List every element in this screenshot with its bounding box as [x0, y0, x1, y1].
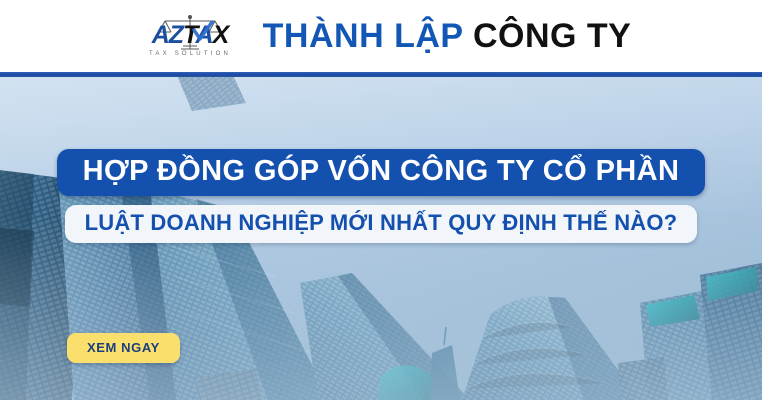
- page-title-primary: THÀNH LẬP: [263, 17, 463, 55]
- page-title-secondary: CÔNG TY: [473, 17, 631, 55]
- xem-ngay-button[interactable]: XEM NGAY: [67, 333, 180, 363]
- banner-page: AZTAX TAX SOLUTION THÀNH LẬP CÔNG TY: [0, 0, 762, 400]
- svg-text:AZTAX: AZTAX: [150, 21, 230, 49]
- hero-banner: HỢP ĐỒNG GÓP VỐN CÔNG TY CỔ PHẦN LUẬT DO…: [0, 77, 762, 400]
- page-title: THÀNH LẬP CÔNG TY: [263, 19, 632, 53]
- header-divider: [0, 72, 762, 77]
- aztax-logo[interactable]: AZTAX TAX SOLUTION: [131, 13, 249, 59]
- headline-title: HỢP ĐỒNG GÓP VỐN CÔNG TY CỔ PHẦN: [57, 149, 706, 196]
- svg-text:TAX SOLUTION: TAX SOLUTION: [149, 51, 231, 57]
- headline-group: HỢP ĐỒNG GÓP VỐN CÔNG TY CỔ PHẦN LUẬT DO…: [0, 149, 762, 243]
- headline-subtitle: LUẬT DOANH NGHIỆP MỚI NHẤT QUY ĐỊNH THẾ …: [65, 205, 698, 242]
- page-header: AZTAX TAX SOLUTION THÀNH LẬP CÔNG TY: [0, 0, 762, 72]
